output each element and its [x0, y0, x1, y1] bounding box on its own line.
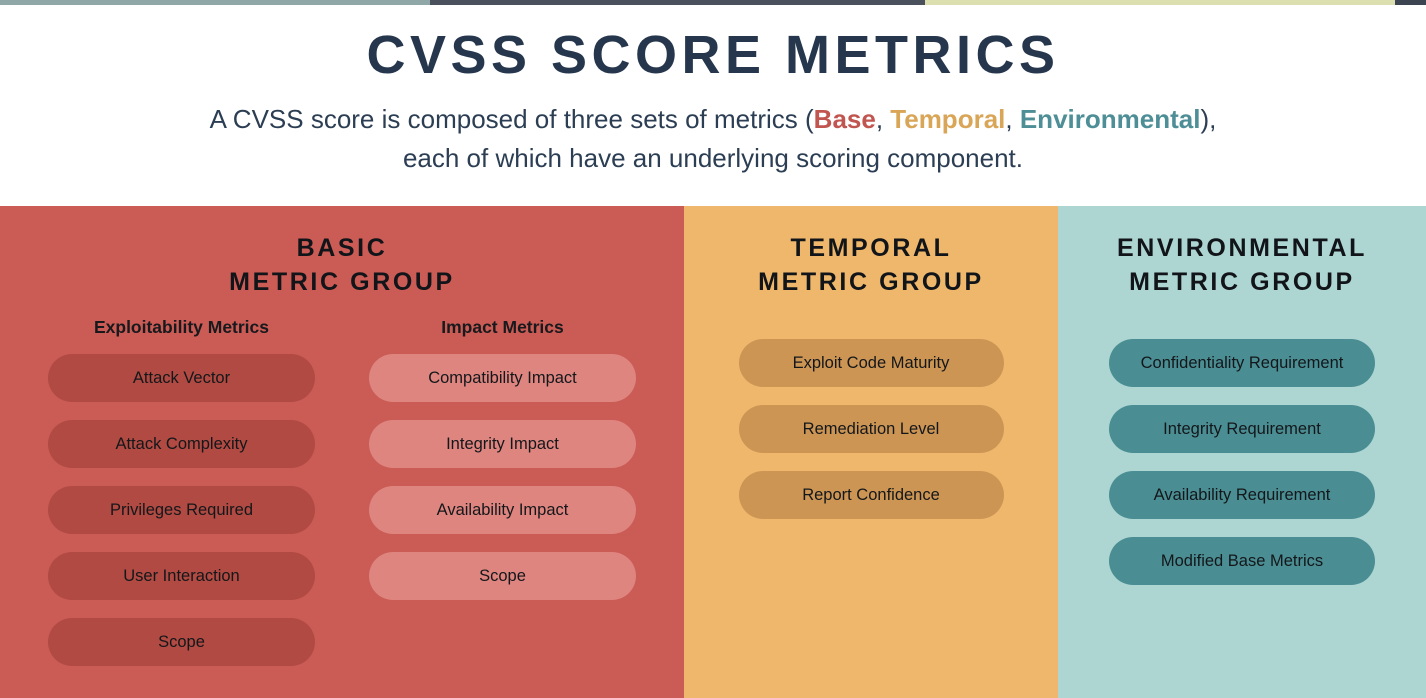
subtitle-tail: ),	[1200, 104, 1216, 134]
metric-group-basic-title: BASIC METRIC GROUP	[0, 206, 684, 299]
metric-pill-user-interaction[interactable]: User Interaction	[48, 552, 315, 600]
temporal-metric-list: Exploit Code Maturity Remediation Level …	[684, 339, 1058, 537]
environmental-metric-list: Confidentiality Requirement Integrity Re…	[1058, 339, 1426, 603]
metric-pill-compatibility-impact[interactable]: Compatibility Impact	[369, 354, 636, 402]
metric-pill-privileges-required[interactable]: Privileges Required	[48, 486, 315, 534]
metric-pill-availability-requirement[interactable]: Availability Requirement	[1109, 471, 1375, 519]
metric-pill-confidentiality-requirement[interactable]: Confidentiality Requirement	[1109, 339, 1375, 387]
metric-group-environmental: ENVIRONMENTAL METRIC GROUP Confidentiali…	[1058, 206, 1426, 698]
metric-pill-report-confidence[interactable]: Report Confidence	[739, 471, 1004, 519]
metric-pill-remediation-level[interactable]: Remediation Level	[739, 405, 1004, 453]
keyword-environmental: Environmental	[1020, 104, 1201, 134]
subgroup-exploitability-heading: Exploitability Metrics	[48, 317, 315, 338]
subtitle-line-2: each of which have an underlying scoring…	[403, 143, 1023, 173]
metric-pill-integrity-requirement[interactable]: Integrity Requirement	[1109, 405, 1375, 453]
metric-group-environmental-title: ENVIRONMENTAL METRIC GROUP	[1058, 206, 1426, 299]
metric-pill-integrity-impact[interactable]: Integrity Impact	[369, 420, 636, 468]
keyword-base: Base	[814, 104, 876, 134]
header-section: CVSS SCORE METRICS A CVSS score is compo…	[0, 5, 1426, 206]
subtitle: A CVSS score is composed of three sets o…	[210, 100, 1217, 179]
keyword-temporal: Temporal	[890, 104, 1005, 134]
subtitle-sep-2: ,	[1005, 104, 1019, 134]
metric-pill-scope-exploitability[interactable]: Scope	[48, 618, 315, 666]
metric-pill-exploit-code-maturity[interactable]: Exploit Code Maturity	[739, 339, 1004, 387]
metric-group-temporal-title: TEMPORAL METRIC GROUP	[684, 206, 1058, 299]
metric-pill-availability-impact[interactable]: Availability Impact	[369, 486, 636, 534]
subgroup-impact: Impact Metrics Compatibility Impact Inte…	[369, 317, 636, 684]
basic-subgroups: Exploitability Metrics Attack Vector Att…	[0, 317, 684, 684]
subtitle-sep-1: ,	[876, 104, 890, 134]
metric-pill-attack-complexity[interactable]: Attack Complexity	[48, 420, 315, 468]
metric-group-basic: BASIC METRIC GROUP Exploitability Metric…	[0, 206, 684, 698]
metric-pill-scope-impact[interactable]: Scope	[369, 552, 636, 600]
metric-pill-attack-vector[interactable]: Attack Vector	[48, 354, 315, 402]
subgroup-exploitability: Exploitability Metrics Attack Vector Att…	[48, 317, 315, 684]
metric-groups-row: BASIC METRIC GROUP Exploitability Metric…	[0, 206, 1426, 698]
subtitle-lead: A CVSS score is composed of three sets o…	[210, 104, 814, 134]
metric-pill-modified-base-metrics[interactable]: Modified Base Metrics	[1109, 537, 1375, 585]
subgroup-impact-heading: Impact Metrics	[369, 317, 636, 338]
infographic-page: CVSS SCORE METRICS A CVSS score is compo…	[0, 0, 1426, 698]
metric-group-temporal: TEMPORAL METRIC GROUP Exploit Code Matur…	[684, 206, 1058, 698]
page-title: CVSS SCORE METRICS	[366, 27, 1059, 84]
